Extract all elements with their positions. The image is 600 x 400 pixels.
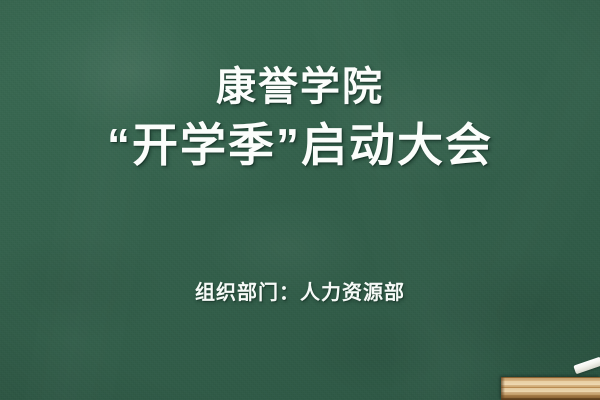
slide-subtitle-organizing-department: 组织部门：人力资源部 — [0, 276, 600, 305]
title-line-one: 康誉学院 — [0, 62, 600, 112]
slide-text-block: 康誉学院 “开学季”启动大会 组织部门：人力资源部 — [0, 0, 600, 400]
chalkboard-slide: 康誉学院 “开学季”启动大会 组织部门：人力资源部 — [0, 0, 600, 400]
title-line-two: “开学季”启动大会 — [0, 116, 600, 175]
chalk-ledge-icon — [501, 377, 600, 400]
chalk-ledge-left-cap — [501, 377, 505, 400]
slide-title: 康誉学院 “开学季”启动大会 — [0, 62, 600, 175]
